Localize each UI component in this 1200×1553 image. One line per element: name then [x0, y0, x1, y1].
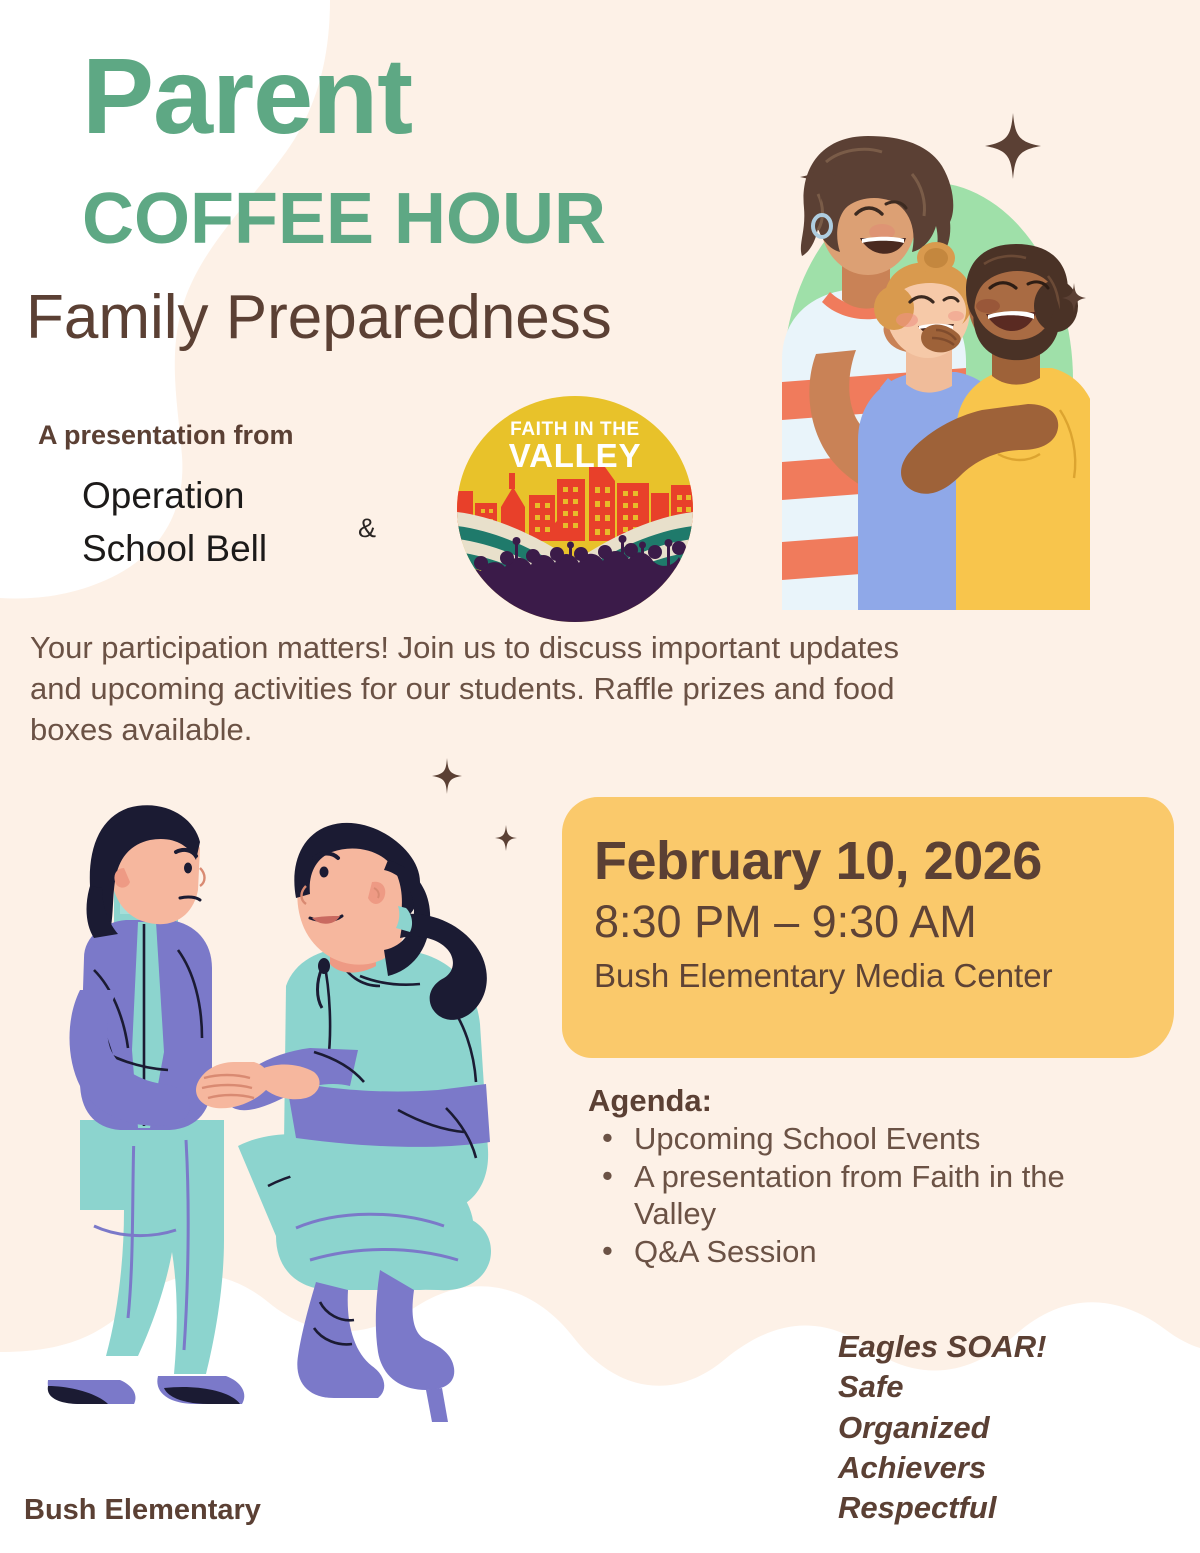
presentation-from-label: A presentation from — [38, 420, 294, 451]
agenda-section: Agenda: Upcoming School Events A present… — [588, 1083, 1088, 1272]
soar-headline: Eagles SOAR! — [838, 1327, 1046, 1367]
page-subtitle: Family Preparedness — [26, 285, 612, 350]
event-location: Bush Elementary Media Center — [594, 957, 1053, 995]
footer-school-name: Bush Elementary — [24, 1494, 261, 1527]
crouching-woman-figure — [196, 823, 491, 1422]
soar-value: Achievers — [838, 1448, 1046, 1488]
sparkle-icon — [495, 825, 517, 851]
soar-value: Organized — [838, 1408, 1046, 1448]
event-details-card: February 10, 2026 8:30 PM – 9:30 AM Bush… — [562, 797, 1174, 1058]
sparkle-icon — [800, 152, 842, 202]
agenda-item: Upcoming School Events — [630, 1121, 1088, 1157]
agenda-item: Q&A Session — [630, 1234, 1088, 1270]
ampersand-separator: & — [358, 513, 376, 544]
organization-name: Operation School Bell — [82, 470, 267, 575]
agenda-title: Agenda: — [588, 1083, 1088, 1119]
agenda-list: Upcoming School Events A presentation fr… — [588, 1121, 1088, 1270]
soar-value: Respectful — [838, 1488, 1046, 1528]
event-date: February 10, 2026 — [594, 830, 1042, 892]
soar-values-section: Eagles SOAR! Safe Organized Achievers Re… — [838, 1327, 1046, 1528]
sparkle-icon — [985, 113, 1041, 179]
mother-and-child-illustration — [28, 790, 528, 1430]
page-title-line1: Parent — [82, 42, 412, 150]
page-title-line2: COFFEE HOUR — [82, 183, 606, 255]
body-paragraph: Your participation matters! Join us to d… — [30, 627, 940, 751]
event-time: 8:30 PM – 9:30 AM — [594, 896, 977, 948]
sparkle-icon — [1062, 283, 1086, 313]
faith-in-the-valley-logo: FAITH IN THE VALLEY — [455, 395, 695, 623]
logo-line2: VALLEY — [509, 437, 642, 474]
sparkle-icon — [432, 758, 462, 794]
flyer-poster: FAITH IN THE VALLEY — [0, 0, 1200, 1553]
soar-value: Safe — [838, 1367, 1046, 1407]
agenda-item: A presentation from Faith in the Valley — [630, 1159, 1088, 1232]
